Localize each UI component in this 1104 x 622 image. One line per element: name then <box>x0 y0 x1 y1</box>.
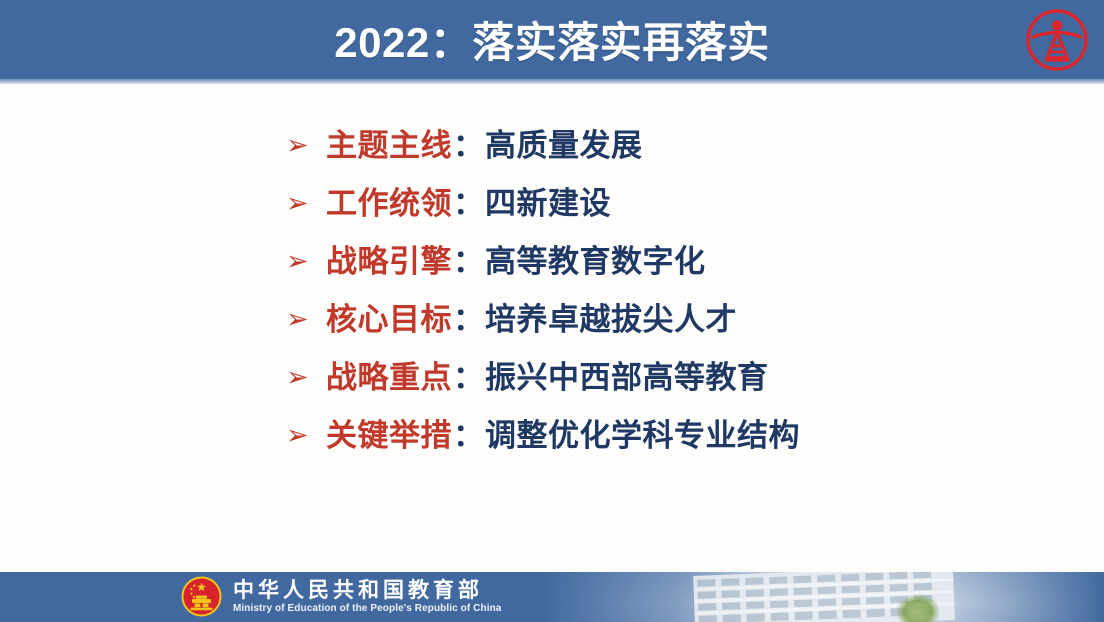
list-item-value: 培养卓越拔尖人才 <box>485 304 737 335</box>
list-item-value: 四新建设 <box>485 188 611 219</box>
list-item-separator: ： <box>452 188 485 219</box>
list-item: ➢ 战略重点 ： 振兴中西部高等教育 <box>286 362 800 393</box>
list-item-separator: ： <box>452 130 485 161</box>
institution-tower-logo-icon <box>1024 7 1090 73</box>
list-item: ➢ 关键举措 ： 调整优化学科专业结构 <box>286 420 800 451</box>
list-item-value: 高等教育数字化 <box>485 246 706 277</box>
arrow-bullet-icon: ➢ <box>286 422 326 449</box>
key-points-list: ➢ 主题主线 ： 高质量发展 ➢ 工作统领 ： 四新建设 ➢ 战略引擎 ： 高等… <box>286 130 800 451</box>
slide-body: ➢ 主题主线 ： 高质量发展 ➢ 工作统领 ： 四新建设 ➢ 战略引擎 ： 高等… <box>0 84 1104 572</box>
presentation-slide: 2022：落实落实再落实 ➢ 主题主线 ： 高质量发展 ➢ 工作统领 ： <box>0 0 1104 622</box>
list-item-separator: ： <box>452 362 485 393</box>
list-item-label: 关键举措 <box>326 420 452 451</box>
list-item: ➢ 核心目标 ： 培养卓越拔尖人才 <box>286 304 800 335</box>
list-item-separator: ： <box>452 304 485 335</box>
ministry-brand: 中华人民共和国教育部 Ministry of Education of the … <box>181 576 501 617</box>
list-item: ➢ 战略引擎 ： 高等教育数字化 <box>286 246 800 277</box>
ministry-name-en: Ministry of Education of the People's Re… <box>233 603 501 614</box>
list-item-separator: ： <box>452 420 485 451</box>
tree-decoration <box>896 594 940 622</box>
list-item-value: 调整优化学科专业结构 <box>485 420 800 451</box>
arrow-bullet-icon: ➢ <box>286 190 326 217</box>
slide-footer-band: 中华人民共和国教育部 Ministry of Education of the … <box>0 572 1104 622</box>
national-emblem-china-icon <box>181 576 222 617</box>
arrow-bullet-icon: ➢ <box>286 306 326 333</box>
list-item-label: 战略重点 <box>326 362 452 393</box>
list-item: ➢ 主题主线 ： 高质量发展 <box>286 130 800 161</box>
list-item-label: 战略引擎 <box>326 246 452 277</box>
list-item: ➢ 工作统领 ： 四新建设 <box>286 188 800 219</box>
arrow-bullet-icon: ➢ <box>286 364 326 391</box>
ministry-building-photo <box>544 572 1104 622</box>
list-item-label: 工作统领 <box>326 188 452 219</box>
list-item-value: 高质量发展 <box>485 130 643 161</box>
slide-title: 2022：落实落实再落实 <box>0 0 1104 79</box>
list-item-value: 振兴中西部高等教育 <box>485 362 769 393</box>
ministry-name-cn: 中华人民共和国教育部 <box>233 579 501 601</box>
list-item-separator: ： <box>452 246 485 277</box>
list-item-label: 核心目标 <box>326 304 452 335</box>
ministry-name-block: 中华人民共和国教育部 Ministry of Education of the … <box>233 579 501 613</box>
arrow-bullet-icon: ➢ <box>286 248 326 275</box>
arrow-bullet-icon: ➢ <box>286 132 326 159</box>
list-item-label: 主题主线 <box>326 130 452 161</box>
